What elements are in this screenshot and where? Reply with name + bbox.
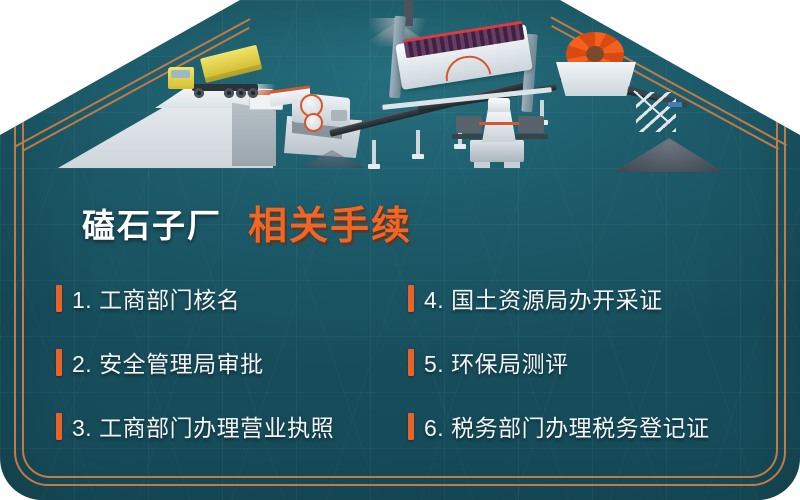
list-item-label: 2. 安全管理局审批 <box>72 345 264 379</box>
cone-crusher-arm <box>518 116 544 133</box>
dump-truck-wheel <box>248 88 258 98</box>
bullet-bar-icon <box>408 285 414 312</box>
list-item: 5. 环保局测评 <box>408 330 756 394</box>
list-item: 6. 税务部门办理税务登记证 <box>408 394 756 458</box>
crushing-plant-illustration <box>0 0 800 200</box>
bullet-bar-icon <box>56 285 62 312</box>
poster-title: 磕石子厂 相关手续 <box>0 196 800 250</box>
conveyor-foot <box>454 144 466 149</box>
conveyor-foot <box>368 164 380 169</box>
bullet-bar-icon <box>56 413 62 440</box>
poster-canvas: 磕石子厂 相关手续 1. 工商部门核名 4. 国土资源局办开采证 2. 安全管理… <box>0 0 800 500</box>
bullet-bar-icon <box>56 349 62 376</box>
list-item-label: 6. 税务部门办理税务登记证 <box>424 409 710 443</box>
dump-truck <box>168 58 264 98</box>
cone-crusher-band <box>479 122 519 125</box>
sand-washer-tub <box>556 62 636 96</box>
title-highlight: 相关手续 <box>248 195 412 251</box>
conveyor-leg <box>416 130 420 156</box>
list-item-label: 3. 工商部门办理营业执照 <box>72 409 334 443</box>
gravel-pile-main <box>614 138 724 172</box>
list-item-label: 5. 环保局测评 <box>424 345 569 379</box>
cone-crusher-base <box>470 140 524 162</box>
dump-truck-windshield <box>171 70 190 78</box>
dump-truck-wheel <box>194 88 204 98</box>
sand-washer-hub <box>586 46 604 62</box>
bullet-bar-icon <box>408 413 414 440</box>
cone-crusher-body <box>482 108 516 142</box>
procedure-list: 1. 工商部门核名 4. 国土资源局办开采证 2. 安全管理局审批 5. 环保局… <box>56 266 756 458</box>
cone-crusher-feed-cap <box>488 98 510 112</box>
list-item: 1. 工商部门核名 <box>56 266 408 330</box>
conveyor-foot <box>412 154 424 159</box>
title-subject: 磕石子厂 <box>82 199 222 247</box>
jaw-crusher-motor <box>331 110 347 121</box>
bullet-bar-icon <box>408 349 414 376</box>
list-item: 4. 国土资源局办开采证 <box>408 266 756 330</box>
dump-truck-wheel <box>236 88 246 98</box>
list-item-label: 4. 国土资源局办开采证 <box>424 281 663 315</box>
dump-truck-wheel <box>224 88 234 98</box>
conveyor-leg <box>372 140 376 166</box>
jaw-crusher-flywheel <box>304 113 323 132</box>
list-item: 3. 工商部门办理营业执照 <box>56 394 408 458</box>
dump-truck-bed <box>200 45 262 83</box>
sand-washer-motor <box>668 102 682 107</box>
sand-washer-stairs <box>636 92 676 132</box>
list-item: 2. 安全管理局审批 <box>56 330 408 394</box>
list-item-label: 1. 工商部门核名 <box>72 281 240 315</box>
